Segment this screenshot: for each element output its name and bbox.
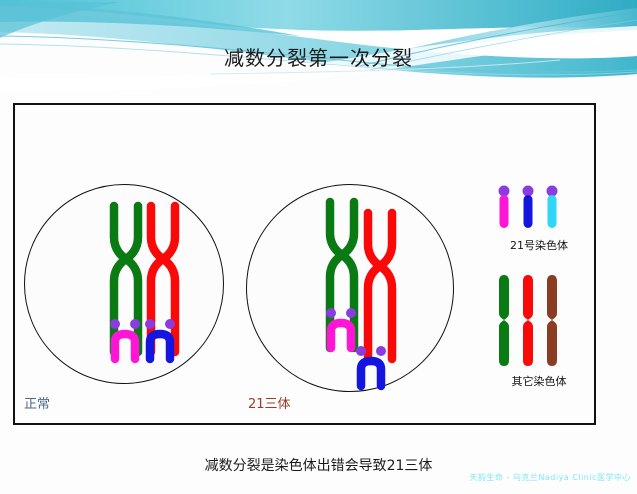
legend-chr21-caption: 21号染色体 bbox=[459, 237, 619, 253]
legend-other-brown-icon bbox=[544, 273, 560, 369]
chromosome-21-magenta-trisomy bbox=[325, 307, 357, 353]
chromosome-21-magenta-normal bbox=[109, 318, 141, 364]
legend-other-caption: 其它染色体 bbox=[459, 373, 619, 389]
slide-canvas: 减数分裂第一次分裂 bbox=[0, 0, 637, 494]
watermark-text: 天韵生命 - 乌克兰Nadiya Clinic医学中心 bbox=[469, 472, 631, 483]
legend-chr21-cyan-icon bbox=[544, 185, 560, 233]
legend-chromosome-21: 21号染色体 bbox=[459, 185, 619, 255]
legend-chr21-blue-icon bbox=[520, 185, 536, 233]
diagram-container: 正常 bbox=[13, 103, 596, 425]
label-trisomy-cell: 21三体 bbox=[248, 393, 291, 412]
chromosome-21-blue-normal bbox=[144, 318, 176, 364]
label-normal-cell: 正常 bbox=[24, 393, 50, 412]
chromosome-red-trisomy bbox=[363, 208, 397, 364]
legend-chr21-magenta-icon bbox=[496, 185, 512, 233]
legend-other-red-icon bbox=[520, 273, 536, 369]
chromosome-21-blue-trisomy bbox=[355, 345, 387, 391]
legend-other-green-icon bbox=[496, 273, 512, 369]
legend-other-chromosomes: 其它染色体 bbox=[459, 273, 619, 383]
page-title: 减数分裂第一次分裂 bbox=[0, 42, 637, 71]
